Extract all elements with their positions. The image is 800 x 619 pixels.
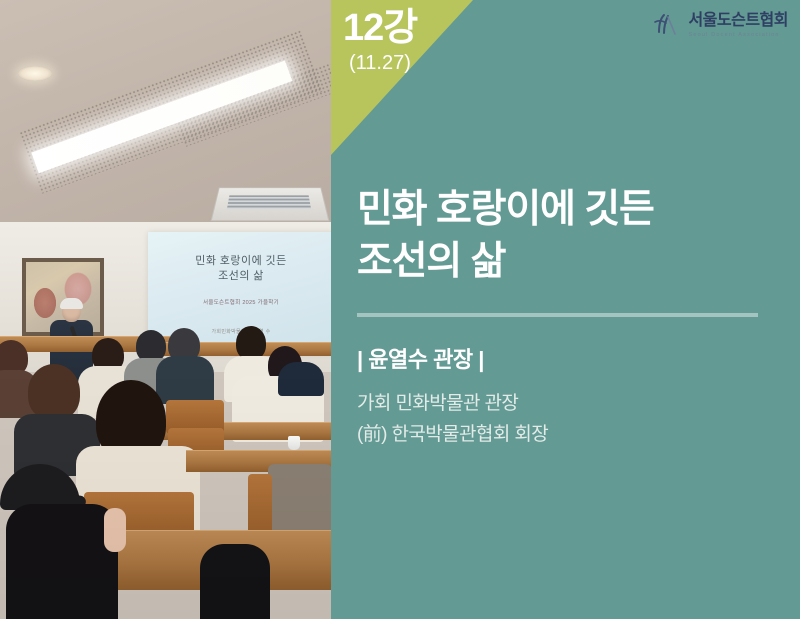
lecture-title-line2: 조선의 삶	[357, 236, 777, 288]
organization-logo: 서울도슨트협회 Seoul Docent Association	[651, 10, 788, 40]
paper-cup	[288, 436, 300, 450]
attendee-head	[236, 326, 266, 360]
attendee-hand	[104, 508, 126, 552]
slide-title-line1: 민화 호랑이에 깃든	[148, 254, 332, 269]
slide-subtitle: 서울도슨트협회 2025 가을학기	[148, 298, 332, 306]
lecture-hall-photo: 민화 호랑이에 깃든 조선의 삶 서울도슨트협회 2025 가을학기 가회민화박…	[0, 0, 332, 619]
audience-area	[0, 318, 332, 619]
presenter-hair	[60, 298, 83, 309]
lesson-date: (11.27)	[349, 52, 411, 75]
recessed-downlight-icon	[18, 66, 52, 81]
slide-title-line2: 조선의 삶	[148, 269, 332, 284]
title-divider	[357, 313, 758, 317]
speaker-name: | 윤열수 관장 |	[357, 342, 484, 374]
speaker-credential-2: (前) 한국박물관협회 회장	[357, 419, 757, 446]
lecture-title-line1: 민화 호랑이에 깃든	[357, 184, 777, 236]
logo-text-block: 서울도슨트협회 Seoul Docent Association	[688, 12, 788, 39]
attendee-hood	[278, 362, 324, 396]
docent-brush-mark-icon	[651, 10, 681, 40]
lecture-promo-poster: 민화 호랑이에 깃든 조선의 삶 서울도슨트협회 2025 가을학기 가회민화박…	[0, 0, 800, 619]
attendee-hair	[6, 504, 118, 619]
ceiling-air-conditioner	[211, 187, 330, 221]
attendee-body	[156, 356, 214, 404]
speaker-credential-1: 가회 민화박물관 관장	[357, 388, 757, 415]
logo-name-ko: 서울도슨트협회	[688, 12, 788, 30]
logo-name-en: Seoul Docent Association	[688, 31, 788, 39]
lecture-title: 민화 호랑이에 깃든 조선의 삶	[357, 184, 777, 288]
info-panel: 12강 (11.27) 서울도슨트협회 Seoul Docent Associa…	[331, 0, 800, 619]
attendee-head	[28, 364, 80, 420]
slide-title: 민화 호랑이에 깃든 조선의 삶	[148, 254, 332, 284]
dark-garment	[200, 544, 270, 619]
lesson-number: 12강	[343, 7, 417, 49]
